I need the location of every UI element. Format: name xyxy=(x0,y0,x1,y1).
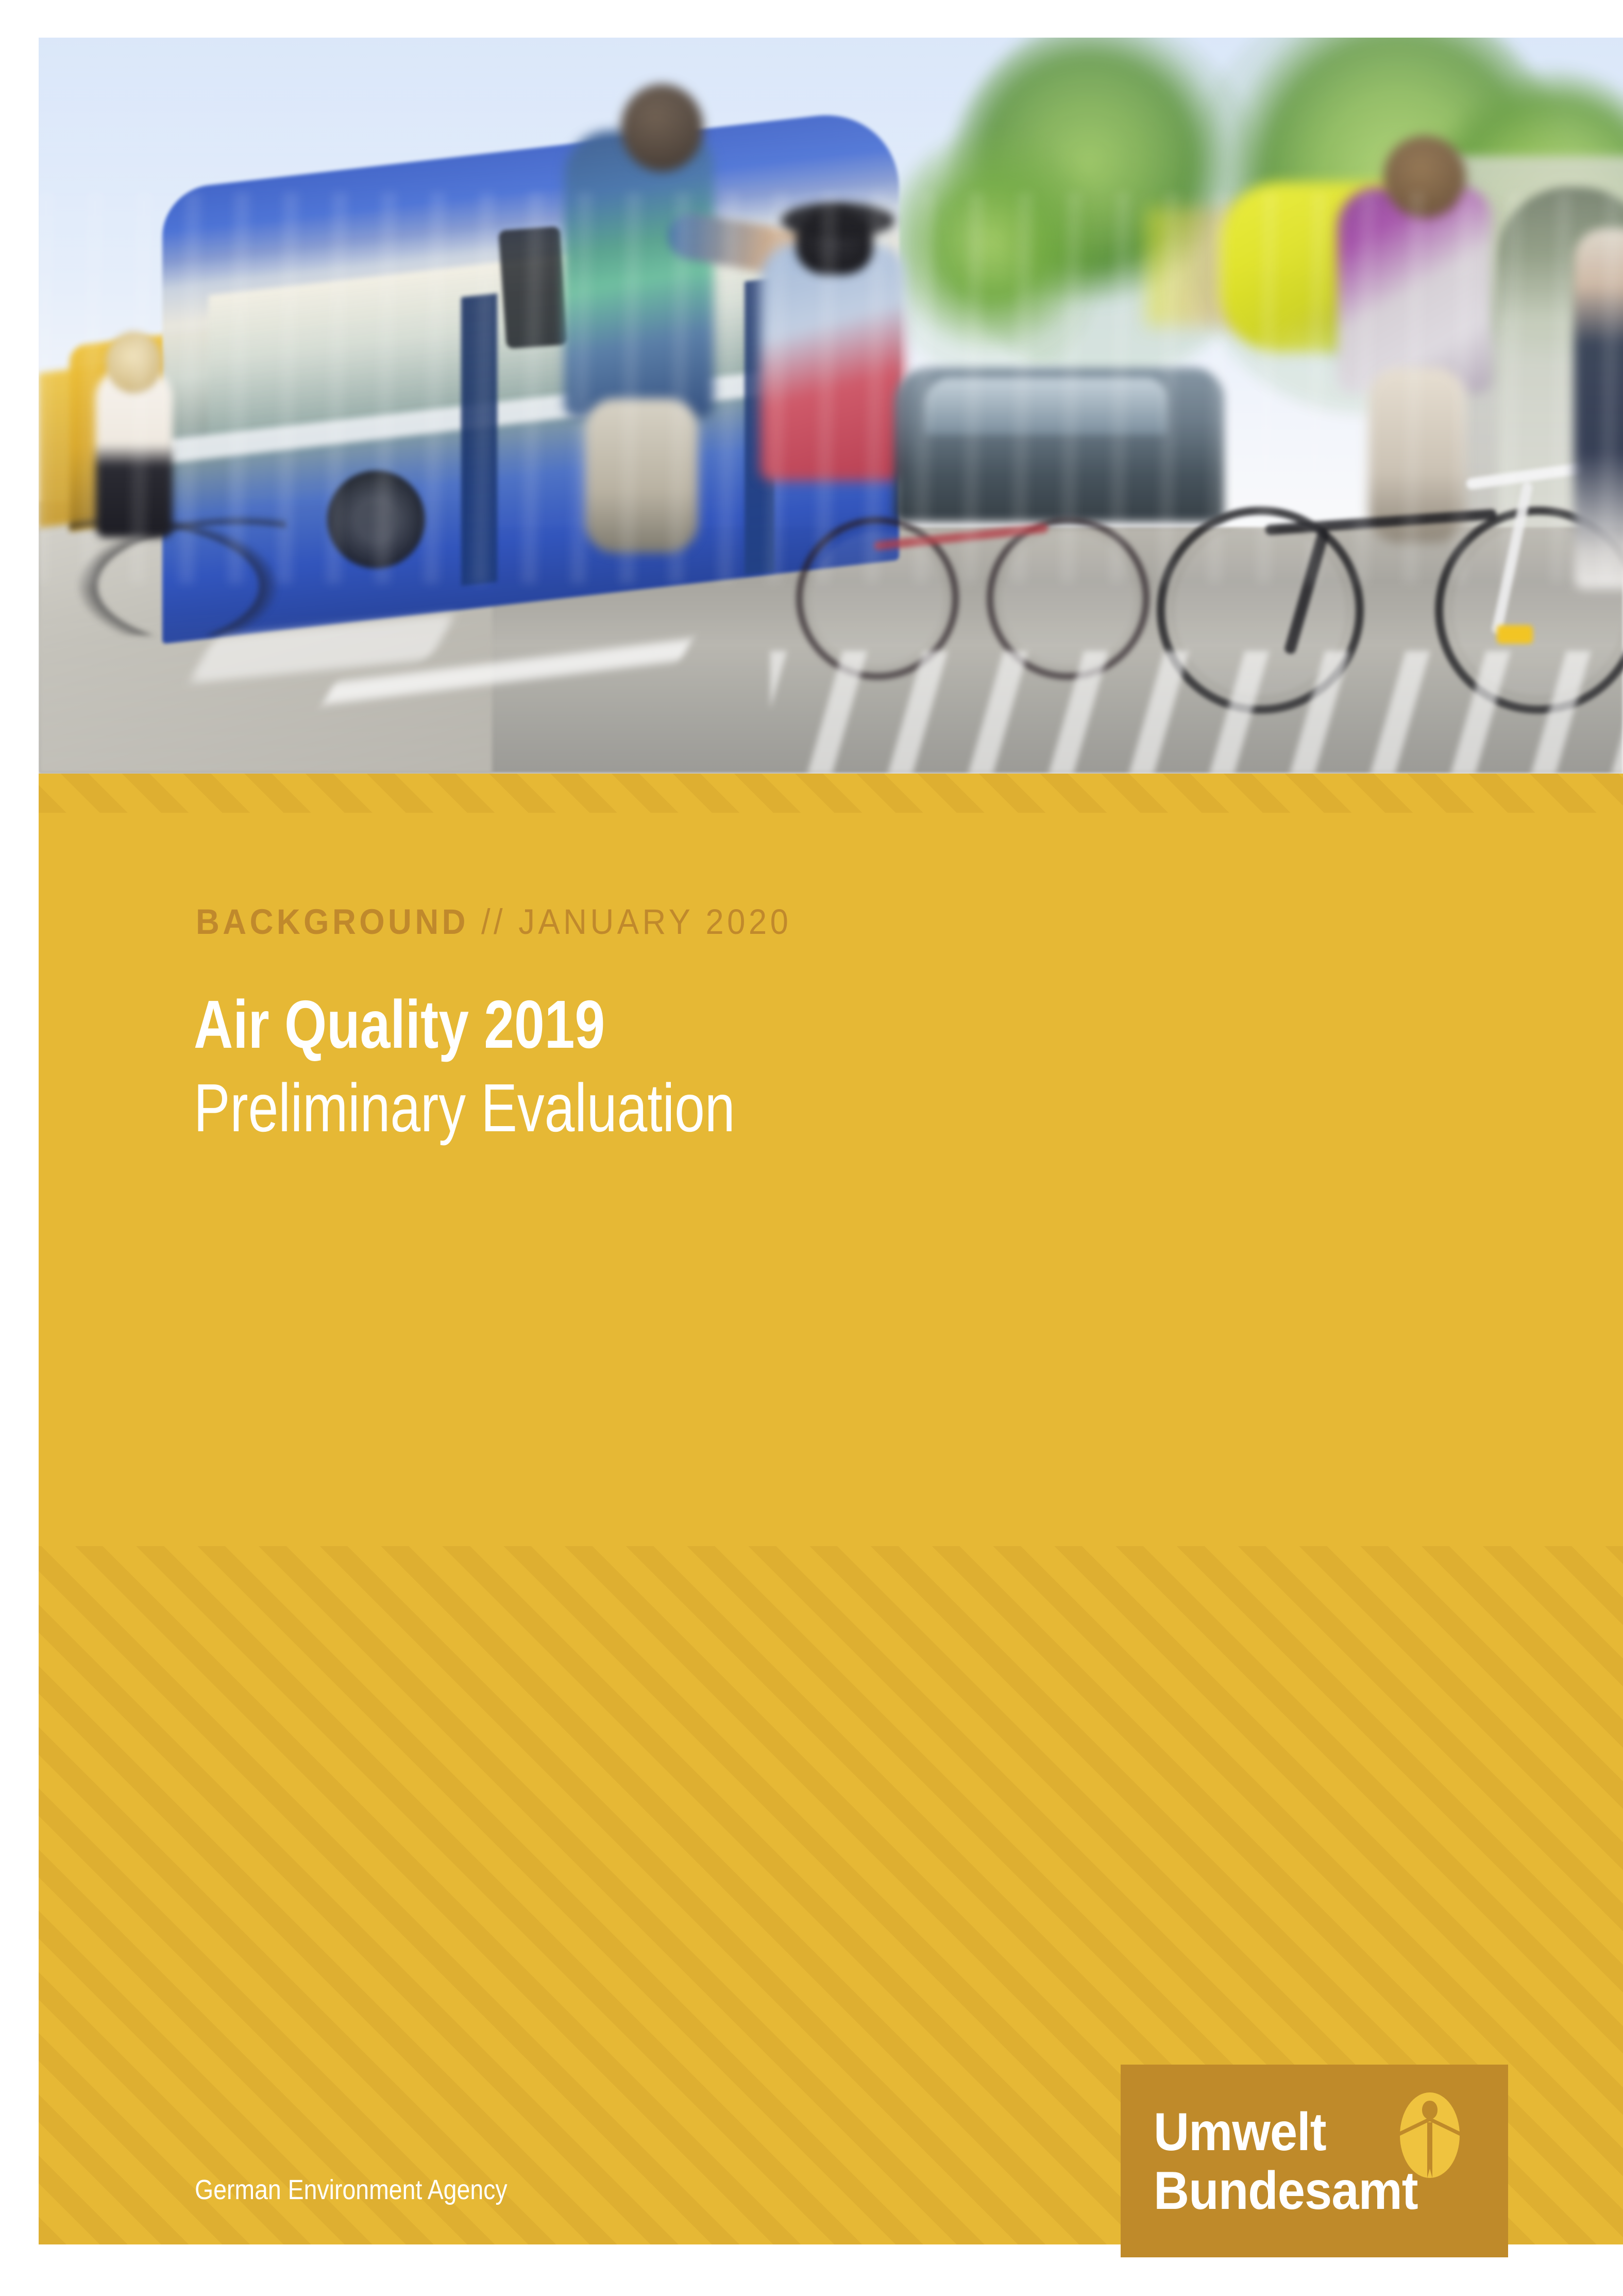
cyclist-head xyxy=(1383,136,1466,218)
bus-mirror xyxy=(498,226,568,349)
kicker-line: BACKGROUND // JANUARY 2020 xyxy=(196,904,791,940)
crosswalk-marking xyxy=(770,651,1623,774)
bicycle-reflector xyxy=(1497,625,1533,644)
car-windshield xyxy=(925,378,1167,434)
cyclist-hat xyxy=(781,203,894,239)
agency-name: German Environment Agency xyxy=(195,2176,508,2204)
bus-wheel xyxy=(327,471,425,568)
street-tree xyxy=(884,130,1100,378)
cyclist-figure xyxy=(564,130,714,419)
bus-door xyxy=(461,293,497,585)
uba-logo-line1: Umwelt xyxy=(1154,2103,1418,2161)
kicker-category: BACKGROUND xyxy=(196,902,469,942)
cyclist-head xyxy=(621,84,703,172)
page-title: Air Quality 2019 xyxy=(194,991,605,1059)
uba-logo-line2: Bundesamt xyxy=(1154,2161,1418,2220)
cover-page: BACKGROUND // JANUARY 2020 Air Quality 2… xyxy=(0,0,1623,2296)
pedestrian xyxy=(1574,228,1623,589)
bicycle-frame xyxy=(1265,509,1497,535)
cover-photo xyxy=(39,38,1623,774)
kicker-date: // JANUARY 2020 xyxy=(469,902,791,942)
cyclist-leg xyxy=(585,398,698,553)
cyclist-figure xyxy=(1337,187,1492,393)
uba-human-figure-icon xyxy=(1399,2091,1461,2179)
uba-logo: Umwelt Bundesamt xyxy=(1121,2065,1508,2257)
diagonal-stripe-band-top xyxy=(39,774,1623,813)
cyclist-figure xyxy=(760,244,904,481)
page-subtitle: Preliminary Evaluation xyxy=(194,1074,735,1142)
uba-logo-text: Umwelt Bundesamt xyxy=(1154,2103,1418,2220)
cyclist-head xyxy=(106,331,162,393)
